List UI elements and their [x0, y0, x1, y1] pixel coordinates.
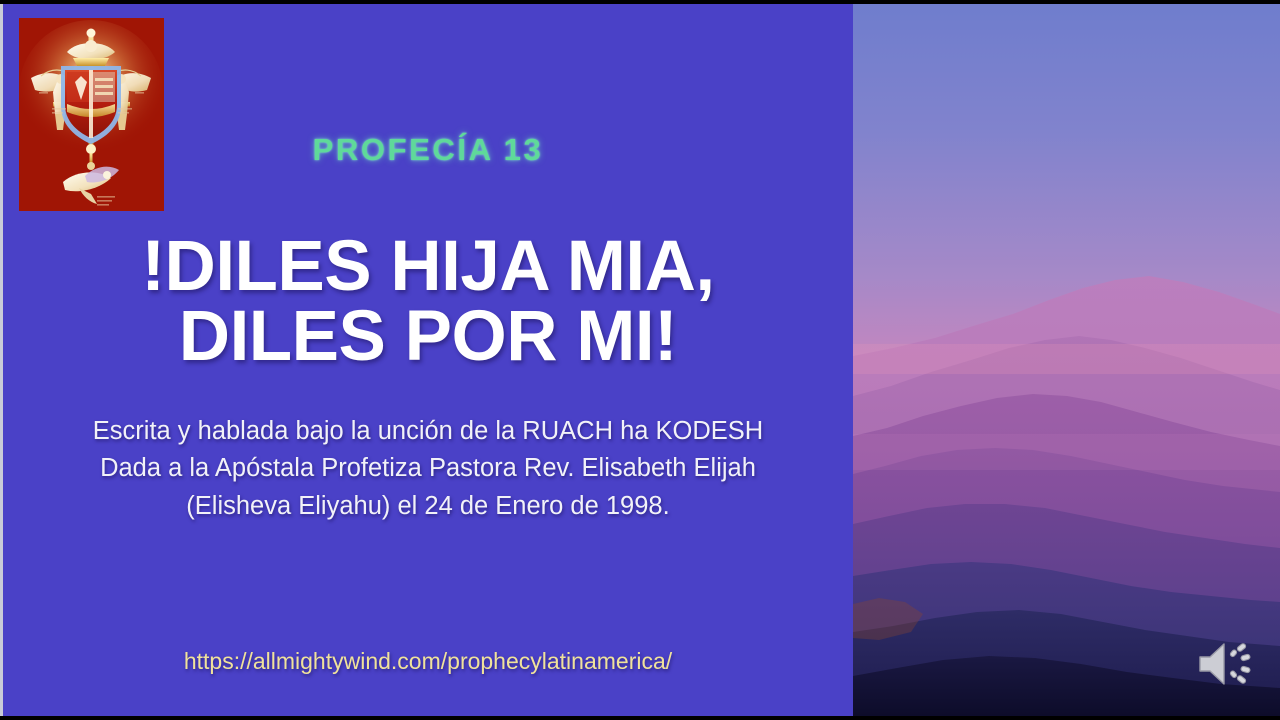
prophecy-number-label: PROFECÍA 13	[3, 132, 853, 168]
presentation-slide: PROFECÍA 13 !DILES HIJA MIA, DILES POR M…	[0, 0, 1280, 720]
slide-subtitle-line-2: Dada a la Apóstala Profetiza Pastora Rev…	[3, 450, 853, 487]
slide-left-edge	[0, 4, 3, 716]
sunset-mountains-photo	[853, 4, 1280, 716]
slide-subtitle-line-1: Escrita y hablada bajo la unción de la R…	[3, 413, 853, 450]
ministry-logo	[19, 18, 164, 211]
slide-top-letterbox	[0, 0, 1280, 4]
audio-speaker-icon[interactable]	[1196, 638, 1254, 690]
slide-subtitle-line-3: (Elisheva Eliyahu) el 24 de Enero de 199…	[3, 488, 853, 525]
slide-title-line-2: DILES POR MI!	[3, 302, 853, 372]
ministry-emblem-icon	[19, 18, 164, 211]
slide-bottom-letterbox	[0, 716, 1280, 720]
sunset-mountains-illustration	[853, 4, 1280, 716]
website-url-link[interactable]: https://allmightywind.com/prophecylatina…	[3, 648, 853, 675]
slide-subtitle: Escrita y hablada bajo la unción de la R…	[3, 413, 853, 525]
slide-title: !DILES HIJA MIA, DILES POR MI!	[3, 232, 853, 371]
slide-title-line-1: !DILES HIJA MIA,	[3, 232, 853, 302]
speaker-glyph	[1196, 638, 1254, 690]
